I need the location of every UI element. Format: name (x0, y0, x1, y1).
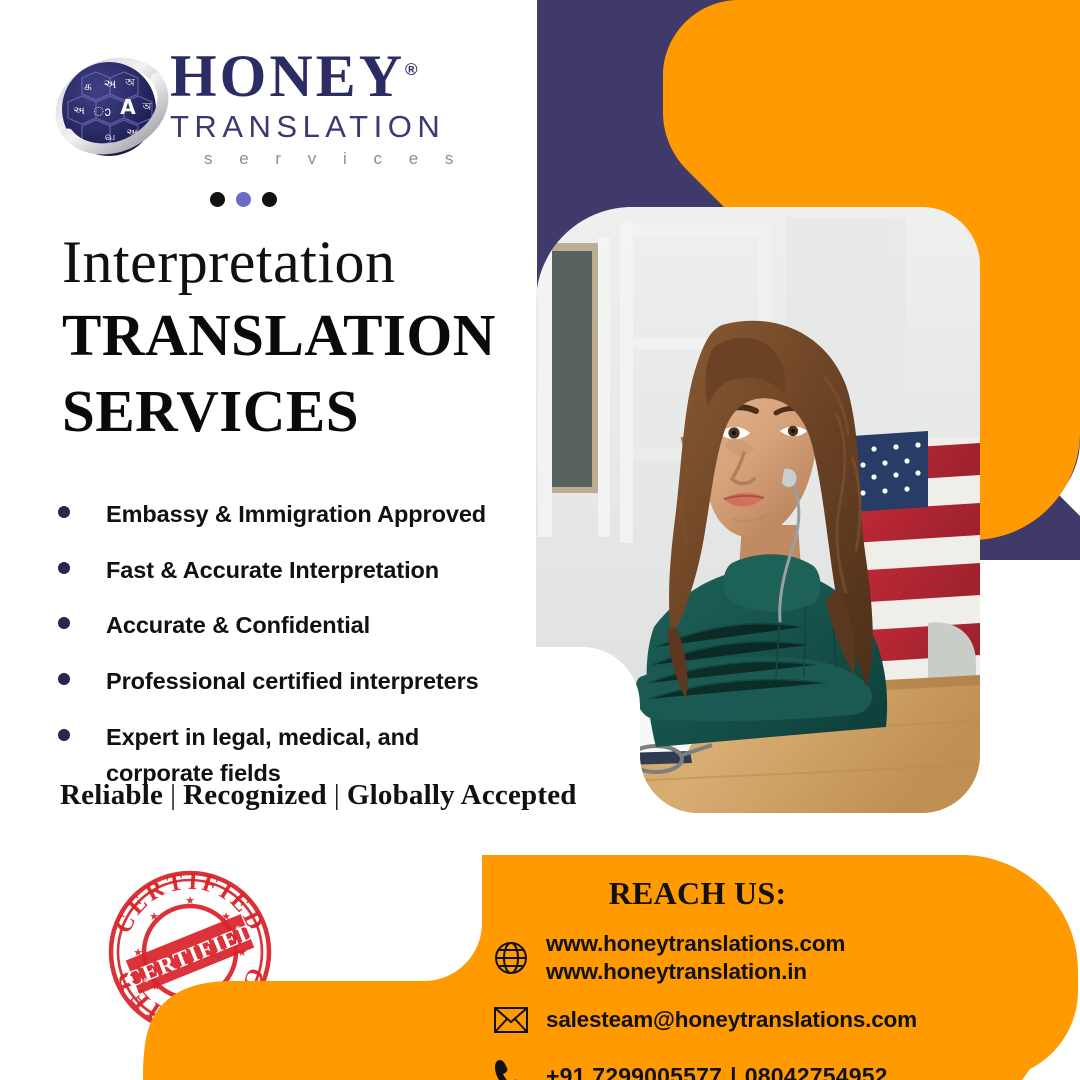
globe-icon (488, 936, 534, 980)
bullet-dot-icon (58, 562, 70, 574)
phone-icon (488, 1054, 534, 1080)
dot-3 (262, 192, 277, 207)
logo-name-sub: TRANSLATION (170, 109, 470, 145)
website-primary[interactable]: www.honeytranslations.com (546, 930, 845, 958)
website-secondary[interactable]: www.honeytranslation.in (546, 958, 845, 986)
dot-1 (210, 192, 225, 207)
registered-trademark-icon: ® (405, 60, 418, 79)
interpreter-photo-illustration (536, 207, 980, 829)
tagline-part-2: Recognized (183, 779, 327, 811)
contact-row-website[interactable]: www.honeytranslations.com www.honeytrans… (488, 930, 1040, 986)
email-value[interactable]: salesteam@honeytranslations.com (546, 1006, 917, 1034)
bullet-dot-icon (58, 617, 70, 629)
envelope-icon (488, 998, 534, 1042)
list-item: Accurate & Confidential (52, 608, 542, 644)
headline-bold-line-2: SERVICES (62, 378, 532, 444)
website-values: www.honeytranslations.com www.honeytrans… (546, 930, 845, 986)
bullet-dot-icon (58, 506, 70, 518)
dot-separator (210, 192, 277, 207)
svg-text:અ: અ (104, 77, 117, 91)
contact-row-email[interactable]: salesteam@honeytranslations.com (488, 998, 1040, 1042)
svg-text:க: க (84, 79, 92, 93)
svg-text:A: A (120, 95, 136, 119)
svg-text:અ: અ (73, 104, 85, 117)
bullet-dot-icon (58, 729, 70, 741)
feature-label: Fast & Accurate Interpretation (106, 553, 439, 589)
interpreter-photo (536, 207, 980, 829)
bullet-dot-icon (58, 673, 70, 685)
phone-values[interactable]: +91 7299005577|08042754952 (546, 1062, 888, 1080)
feature-label: Accurate & Confidential (106, 608, 370, 644)
list-item: Fast & Accurate Interpretation (52, 553, 542, 589)
phone-primary[interactable]: +91 7299005577 (546, 1063, 722, 1080)
headline-script-line: Interpretation (62, 232, 532, 292)
footer-orange-lower-extension (143, 983, 440, 1080)
feature-list: Embassy & Immigration Approved Fast & Ac… (52, 497, 542, 791)
svg-text:অ: অ (124, 76, 135, 89)
brand-logo[interactable]: க અ অ અ ാ A অ ੷ வ અ HONEY® TRANSLATION s… (52, 46, 472, 176)
tagline-part-1: Reliable (60, 779, 163, 811)
trust-tagline: Reliable|Recognized|Globally Accepted (60, 779, 577, 812)
dot-2 (236, 192, 251, 207)
feature-label: Professional certified interpreters (106, 664, 479, 700)
tagline-separator: | (163, 779, 183, 811)
logo-name-tag: s e r v i c e s (170, 148, 470, 170)
tagline-separator: | (327, 779, 347, 811)
list-item: Embassy & Immigration Approved (52, 497, 542, 533)
svg-text:ാ: ാ (94, 105, 111, 120)
contact-list: www.honeytranslations.com www.honeytrans… (440, 930, 1040, 1080)
feature-label: Embassy & Immigration Approved (106, 497, 486, 533)
headline-bold-line-1: TRANSLATION (62, 302, 532, 368)
language-globe-icon: க અ অ અ ാ A অ ੷ வ અ (52, 52, 170, 170)
footer-title: REACH US: (440, 875, 955, 912)
logo-name-main: HONEY® (170, 46, 470, 107)
logo-wordmark: HONEY® TRANSLATION s e r v i c e s (170, 46, 470, 170)
contact-details: REACH US: www.honeytranslations.com www.… (440, 875, 1040, 1080)
svg-text:অ: অ (142, 102, 152, 113)
page-title: Interpretation TRANSLATION SERVICES (62, 232, 532, 444)
phone-separator: | (722, 1063, 745, 1080)
phone-secondary[interactable]: 08042754952 (745, 1063, 888, 1080)
list-item: Professional certified interpreters (52, 664, 542, 700)
svg-text:வ: வ (105, 130, 116, 143)
contact-row-phone[interactable]: +91 7299005577|08042754952 (488, 1054, 1040, 1080)
flyer-canvas: க અ অ અ ാ A অ ੷ வ અ HONEY® TRANSLATION s… (0, 0, 1080, 1080)
